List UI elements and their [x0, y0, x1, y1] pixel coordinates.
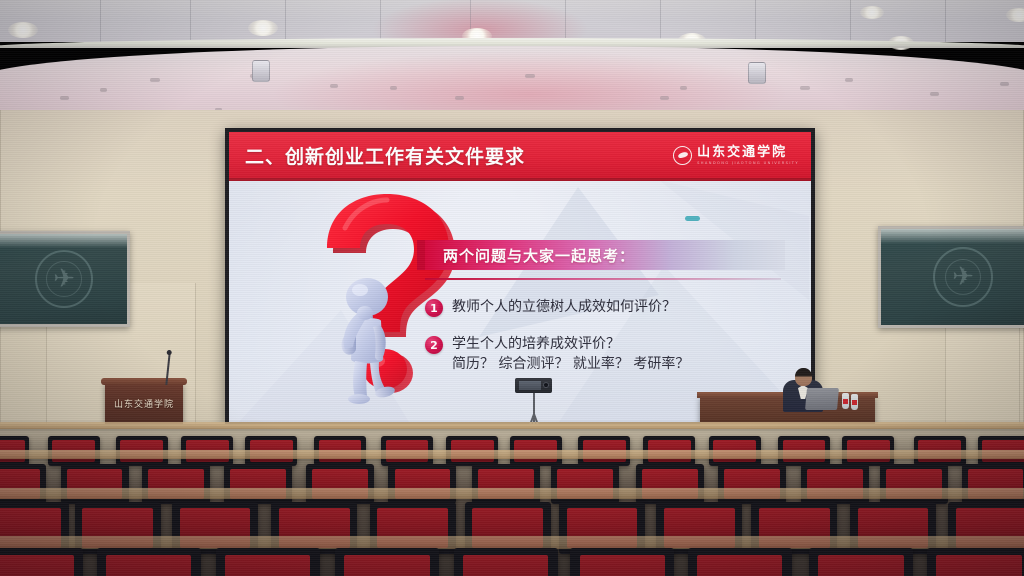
chair-cushion	[697, 555, 782, 576]
slide-title: 二、创新创业工作有关文件要求	[245, 142, 525, 169]
banner-text: 两个问题与大家一起思考：	[443, 245, 635, 266]
slide-banner: 两个问题与大家一起思考：	[425, 240, 785, 270]
display-logo-watermark-icon: ✈	[933, 247, 993, 307]
wall-vent	[330, 84, 338, 88]
chair-cushion	[0, 555, 74, 576]
wall-vent	[930, 92, 939, 96]
question-item-2: 2 学生个人的培养成效评价？ 简历？ 综合测评？ 就业率？ 考研率？	[425, 335, 689, 375]
ceiling-panel-seam	[380, 0, 381, 42]
chair-cushion	[580, 555, 665, 576]
chair-cushion	[344, 555, 429, 576]
recessed-downlight-icon	[248, 20, 278, 36]
podium-label: 山东交通学院	[105, 397, 183, 410]
camera-lens-icon	[543, 382, 549, 388]
university-name: 山东交通学院	[697, 146, 799, 159]
audience-desk-row	[0, 450, 1024, 459]
water-bottle	[851, 394, 858, 410]
audience-chair	[0, 548, 83, 576]
wall-vent	[800, 86, 810, 90]
wall-vent	[60, 96, 69, 100]
audience-chair	[809, 548, 913, 576]
wall-vent	[100, 88, 107, 92]
side-display-left: ✈	[0, 231, 130, 327]
wall-vent	[845, 78, 853, 82]
ceiling-panel-seam	[190, 0, 191, 42]
thinking-person-3d-icon	[325, 277, 411, 405]
chair-cushion	[463, 555, 548, 576]
question-item-1: 1 教师个人的立德树人成效如何评价？	[425, 298, 676, 318]
wall-vent	[680, 86, 687, 90]
ceiling-panel-seam	[850, 0, 851, 42]
recessed-downlight-icon	[860, 6, 884, 19]
wall-vent	[1000, 82, 1009, 86]
audience-desk-row	[0, 488, 1024, 499]
question-text: 学生个人的培养成效评价？	[452, 335, 689, 355]
recording-phone	[515, 378, 552, 393]
ceiling-panel-seam	[285, 0, 286, 42]
display-glare	[881, 229, 1024, 244]
audience-chair	[570, 548, 674, 576]
audience-chair	[688, 548, 792, 576]
side-display-right: ✈	[878, 226, 1024, 328]
audience-desk-row	[0, 422, 1024, 429]
ceiling-panel-seam	[100, 0, 101, 42]
university-emblem-icon	[673, 146, 692, 165]
audience-chair	[927, 548, 1024, 576]
ceiling-speaker-icon	[748, 62, 766, 84]
wall-vent	[660, 96, 669, 100]
title-underline	[229, 178, 811, 181]
lecture-hall-photo: ✈ ✈ 二、创新创业工作有关文件要求 山东交通学院 SHANDONG JIAOT…	[0, 0, 1024, 576]
university-logo: 山东交通学院 SHANDONG JIAOTONG UNIVERSITY	[673, 146, 799, 165]
question-number-badge: 2	[425, 336, 443, 354]
display-glare	[0, 234, 127, 248]
chair-cushion	[818, 555, 903, 576]
presenter-laptop	[805, 388, 839, 410]
wall-vent	[455, 96, 464, 100]
banner-underline	[425, 278, 781, 280]
ceiling-speaker-icon	[252, 60, 270, 82]
ceiling-panel-seam	[660, 0, 661, 42]
teal-pill-accent-icon	[685, 216, 700, 221]
audience-chair	[97, 548, 201, 576]
ceiling-panel-seam	[565, 0, 566, 42]
banner-accent-bar	[417, 240, 425, 270]
university-subtitle: SHANDONG JIAOTONG UNIVERSITY	[697, 161, 799, 165]
audience-chair	[335, 548, 439, 576]
podium-top	[101, 378, 187, 385]
phone-screen	[519, 381, 541, 390]
chair-cushion	[106, 555, 191, 576]
wall-vent	[150, 78, 160, 82]
wall-vent	[525, 74, 535, 78]
recessed-downlight-icon	[8, 22, 38, 38]
ceiling-panel-seam	[755, 0, 756, 42]
audience-chair	[216, 548, 320, 576]
wall-vent	[390, 86, 397, 90]
slide-title-bar: 二、创新创业工作有关文件要求 山东交通学院 SHANDONG JIAOTONG …	[229, 132, 811, 178]
display-logo-watermark-icon: ✈	[35, 250, 93, 308]
audience-area	[0, 424, 1024, 576]
presenter-head	[795, 368, 812, 386]
question-text: 教师个人的立德树人成效如何评价？	[452, 298, 676, 318]
ceiling-panel-seam	[945, 0, 946, 42]
water-bottle	[842, 393, 849, 409]
question-subtext: 简历？ 综合测评？ 就业率？ 考研率？	[452, 355, 689, 375]
chair-cushion	[936, 555, 1021, 576]
chair-cushion	[225, 555, 310, 576]
question-number-badge: 1	[425, 299, 443, 317]
audience-chair	[454, 548, 558, 576]
